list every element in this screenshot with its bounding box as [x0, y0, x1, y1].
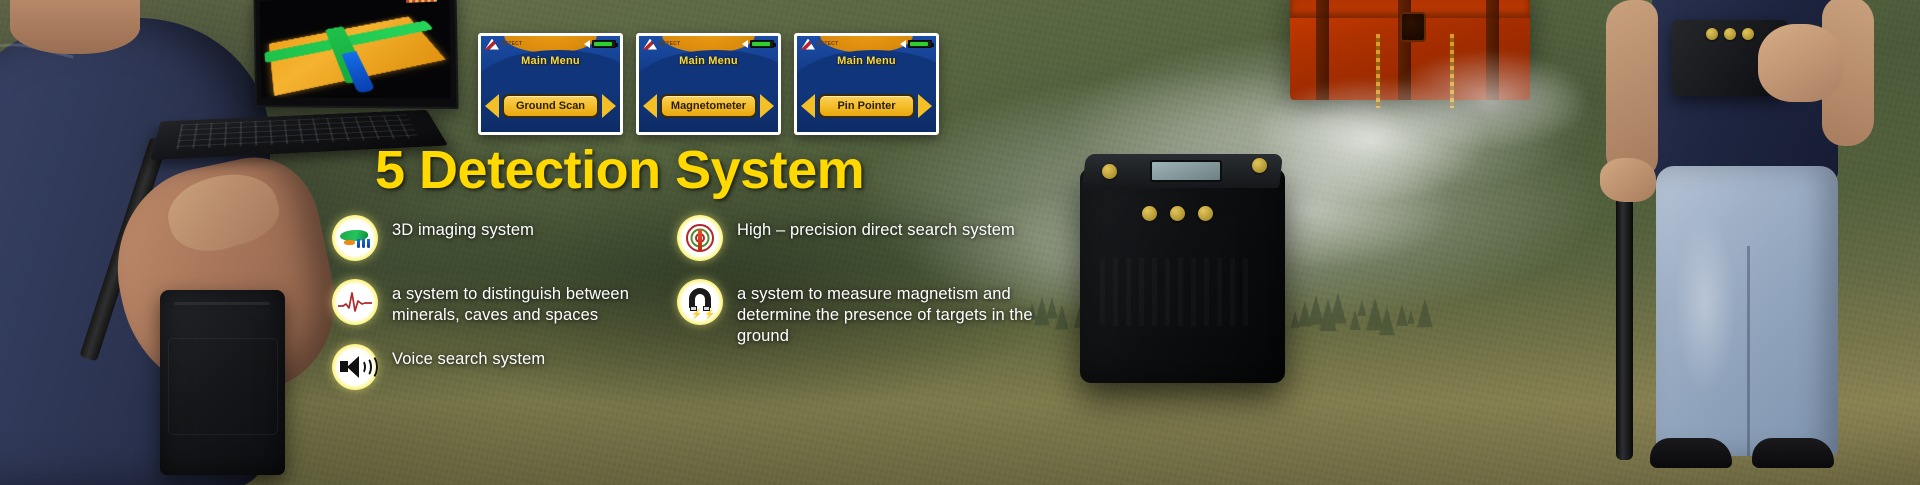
prev-arrow-icon[interactable]: [485, 94, 499, 118]
waist-unit-knob: [1724, 28, 1736, 40]
battery-fill: [910, 42, 928, 46]
person-jeans: [1656, 166, 1838, 456]
right-scene-photo: [1040, 0, 1920, 485]
prev-arrow-icon[interactable]: [643, 94, 657, 118]
feature-label: a system to distinguish between minerals…: [392, 279, 662, 326]
ground-scan-3d-visual: [269, 16, 446, 95]
treasure-chest-image: [1290, 0, 1530, 100]
magnet-spark-icon: ⚡: [691, 310, 702, 319]
person-left-hand: [1600, 158, 1656, 202]
menu-title: Main Menu: [481, 55, 620, 67]
brand-logo-icon: DETECT: [801, 39, 838, 50]
metal-detector-control-unit: [1080, 168, 1285, 383]
menu-selector-row: Pin Pointer: [801, 94, 932, 118]
logo-mark: [801, 39, 815, 50]
terrain-hotspot: [344, 240, 355, 245]
logo-mark: [643, 39, 657, 50]
logo-wordmark: DETECT: [659, 42, 680, 47]
battery-icon: [592, 40, 616, 48]
list-item: a system to distinguish between minerals…: [332, 279, 662, 326]
menu-option-button[interactable]: Ground Scan: [502, 94, 599, 118]
waist-unit-knob: [1742, 28, 1754, 40]
brand-logo-icon: DETECT: [643, 39, 680, 50]
chest-band: [1316, 0, 1329, 100]
signal-needle: [698, 229, 702, 251]
feature-label: 3D imaging system: [392, 215, 534, 241]
status-indicators: [900, 40, 932, 48]
menu-status-bar: DETECT: [797, 36, 936, 52]
logo-mark: [485, 39, 499, 50]
person-shoe: [1752, 438, 1834, 468]
menu-status-bar: DETECT: [481, 36, 620, 52]
target-signal-glyph: [685, 223, 715, 253]
brand-logo-icon: DETECT: [485, 39, 522, 50]
chest-lock: [1400, 12, 1426, 42]
feature-column-left: 3D imaging system a system to distinguis…: [332, 215, 662, 408]
terrain-spike: [357, 239, 360, 248]
status-indicators: [742, 40, 774, 48]
detector-knob: [1142, 206, 1157, 221]
menu-panel-pin-pointer[interactable]: DETECT Main Menu Pin Pointer: [794, 33, 939, 135]
logo-wordmark: DETECT: [501, 42, 522, 47]
3d-terrain-glyph: [340, 228, 370, 248]
detector-button-row: [1142, 204, 1228, 224]
menu-panel-magnetometer[interactable]: DETECT Main Menu Magnetometer: [636, 33, 781, 135]
speaker-icon: [332, 344, 378, 390]
detector-knob: [1170, 206, 1185, 221]
menu-title: Main Menu: [639, 55, 778, 67]
magnet-glyph: ⚡ ⚡: [686, 288, 714, 316]
list-item: ⚡ ⚡ a system to measure magnetism and de…: [677, 279, 1057, 346]
page-title: 5 Detection System: [375, 139, 864, 201]
jeans-seam: [1747, 246, 1750, 456]
menu-selector-row: Magnetometer: [643, 94, 774, 118]
battery-fill: [752, 42, 770, 46]
screen-toolbar-marks: [406, 0, 437, 3]
battery-icon: [908, 40, 932, 48]
menu-title: Main Menu: [797, 55, 936, 67]
magnet-icon: ⚡ ⚡: [677, 279, 723, 325]
promo-banner: DETECT Main Menu Ground Scan: [0, 0, 1920, 485]
magnet-spark-icon: ⚡: [704, 310, 715, 319]
logo-wordmark: DETECT: [817, 42, 838, 47]
equipment-shoulder-bag: [160, 290, 285, 475]
person-left-arm: [1606, 0, 1658, 180]
detector-brand-emboss: [1100, 258, 1250, 326]
next-arrow-icon[interactable]: [760, 94, 774, 118]
sound-wave: [362, 354, 378, 380]
detector-knob: [1102, 164, 1117, 179]
magnet-body: [689, 288, 711, 308]
status-indicators: [584, 40, 616, 48]
menu-option-button[interactable]: Pin Pointer: [818, 94, 915, 118]
waveform-icon: [332, 279, 378, 325]
prev-arrow-icon[interactable]: [801, 94, 815, 118]
person-right-hand: [1758, 24, 1844, 102]
waveform-glyph: [338, 290, 372, 314]
next-arrow-icon[interactable]: [918, 94, 932, 118]
feature-label: Voice search system: [392, 344, 545, 370]
feature-column-right: High – precision direct search system ⚡ …: [677, 215, 1057, 364]
laptop-lid: [253, 0, 458, 109]
speaker-icon: [742, 40, 748, 48]
speaker-icon: [584, 40, 590, 48]
device-menu-screens: DETECT Main Menu Ground Scan: [478, 33, 939, 135]
chest-chain: [1450, 34, 1454, 108]
list-item: Voice search system: [332, 344, 662, 390]
laptop-screen: [260, 0, 451, 99]
battery-fill: [594, 42, 612, 46]
feature-list: 3D imaging system a system to distinguis…: [332, 215, 1072, 395]
target-signal-icon: [677, 215, 723, 261]
feature-label: a system to measure magnetism and determ…: [737, 279, 1057, 346]
person-shoe: [1650, 438, 1732, 468]
person-neck: [10, 0, 140, 54]
chest-chain: [1376, 34, 1380, 108]
feature-label: High – precision direct search system: [737, 215, 1015, 241]
menu-selector-row: Ground Scan: [485, 94, 616, 118]
3d-imaging-icon: [332, 215, 378, 261]
detector-knob: [1252, 158, 1267, 173]
list-item: 3D imaging system: [332, 215, 662, 261]
terrain-spike: [362, 239, 365, 248]
menu-status-bar: DETECT: [639, 36, 778, 52]
chest-band: [1486, 0, 1499, 100]
speaker-glyph: [340, 356, 370, 378]
menu-panel-ground-scan[interactable]: DETECT Main Menu Ground Scan: [478, 33, 623, 135]
menu-option-button[interactable]: Magnetometer: [660, 94, 757, 118]
detector-knob: [1198, 206, 1213, 221]
waist-unit-knob: [1706, 28, 1718, 40]
terrain-spike: [367, 239, 370, 248]
battery-icon: [750, 40, 774, 48]
list-item: High – precision direct search system: [677, 215, 1057, 261]
person-with-detector: [1600, 0, 1920, 485]
next-arrow-icon[interactable]: [602, 94, 616, 118]
speaker-icon: [900, 40, 906, 48]
jeans-highlight: [1674, 214, 1736, 394]
detector-lcd-screen: [1150, 160, 1222, 182]
